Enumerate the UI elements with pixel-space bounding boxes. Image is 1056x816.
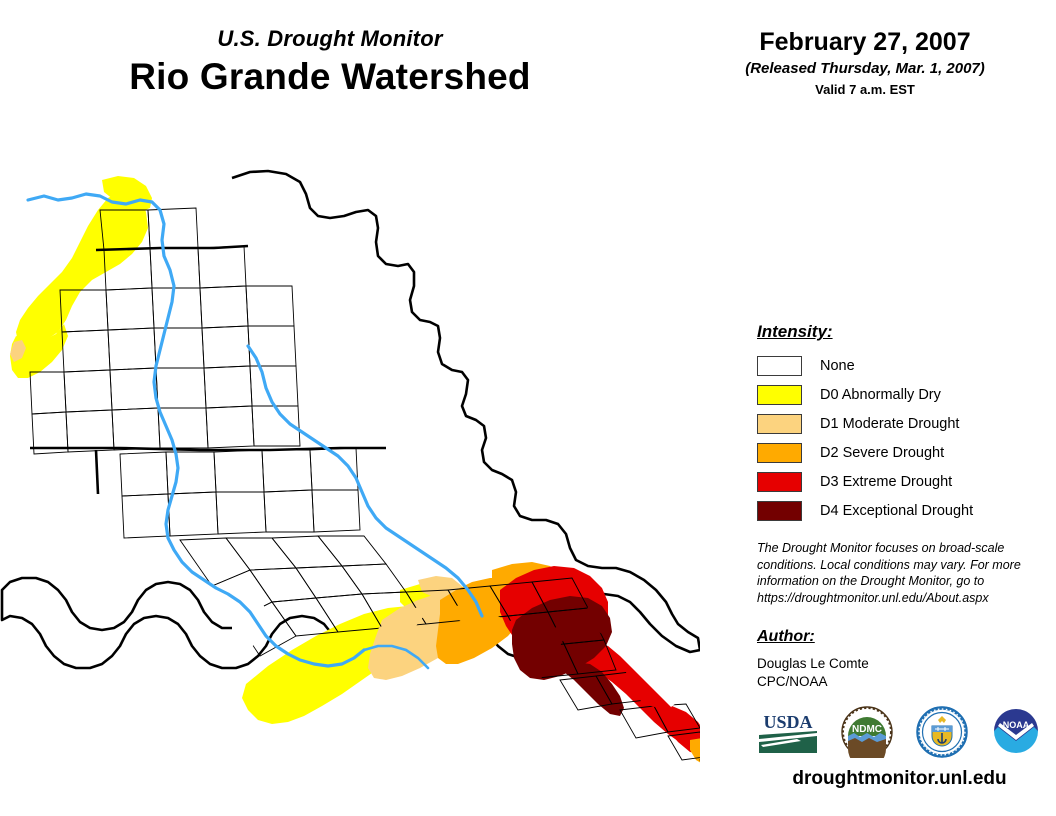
author-name: Douglas Le Comte [757,655,1027,673]
legend-swatch-d1 [757,414,802,434]
usdc-seal-logo[interactable] [916,706,968,758]
ndmc-logo[interactable]: NDMC [841,706,893,758]
author-affiliation: CPC/NOAA [757,673,1027,691]
legend-swatch-d0 [757,385,802,405]
legend-item-d0[interactable]: D0 Abnormally Dry [757,380,1037,409]
author-heading: Author: [757,628,1027,646]
noaa-logo[interactable]: NOAA [990,707,1042,757]
legend-swatch-d3 [757,472,802,492]
logos-row: USDA NDMC NOAA [757,703,1042,761]
noaa-logo-text: NOAA [1003,720,1030,730]
legend-label-d4: D4 Exceptional Drought [820,503,973,519]
legend-swatch-d2 [757,443,802,463]
legend-label-none: None [820,358,855,374]
usda-logo[interactable]: USDA [757,709,819,755]
title-block: U.S. Drought Monitor Rio Grande Watershe… [0,26,660,98]
site-url[interactable]: droughtmonitor.unl.edu [757,768,1042,790]
legend-swatch-d4 [757,501,802,521]
legend-item-d1[interactable]: D1 Moderate Drought [757,409,1037,438]
legend-label-d3: D3 Extreme Drought [820,474,952,490]
ndmc-logo-text: NDMC [852,724,882,735]
date-block: February 27, 2007 (Released Thursday, Ma… [690,28,1040,97]
usda-logo-text: USDA [763,712,812,732]
legend-item-none[interactable]: None [757,351,1037,380]
legend-item-d4[interactable]: D4 Exceptional Drought [757,496,1037,525]
valid-time: Valid 7 a.m. EST [690,82,1040,97]
valid-date: February 27, 2007 [690,28,1040,57]
release-date: (Released Thursday, Mar. 1, 2007) [690,60,1040,77]
page-title: Rio Grande Watershed [0,56,660,98]
legend-swatch-none [757,356,802,376]
author-block: Author: Douglas Le Comte CPC/NOAA [757,628,1027,691]
disclaimer-text: The Drought Monitor focuses on broad-sca… [757,540,1027,606]
legend-item-d3[interactable]: D3 Extreme Drought [757,467,1037,496]
legend-label-d1: D1 Moderate Drought [820,416,959,432]
legend-label-d0: D0 Abnormally Dry [820,387,941,403]
map-svg [0,150,700,810]
legend: Intensity: None D0 Abnormally Dry D1 Mod… [757,322,1037,525]
legend-item-d2[interactable]: D2 Severe Drought [757,438,1037,467]
program-title: U.S. Drought Monitor [0,26,660,52]
legend-heading: Intensity: [757,322,1037,342]
rio-grande-watershed-drought-map [0,150,700,810]
legend-label-d2: D2 Severe Drought [820,445,944,461]
